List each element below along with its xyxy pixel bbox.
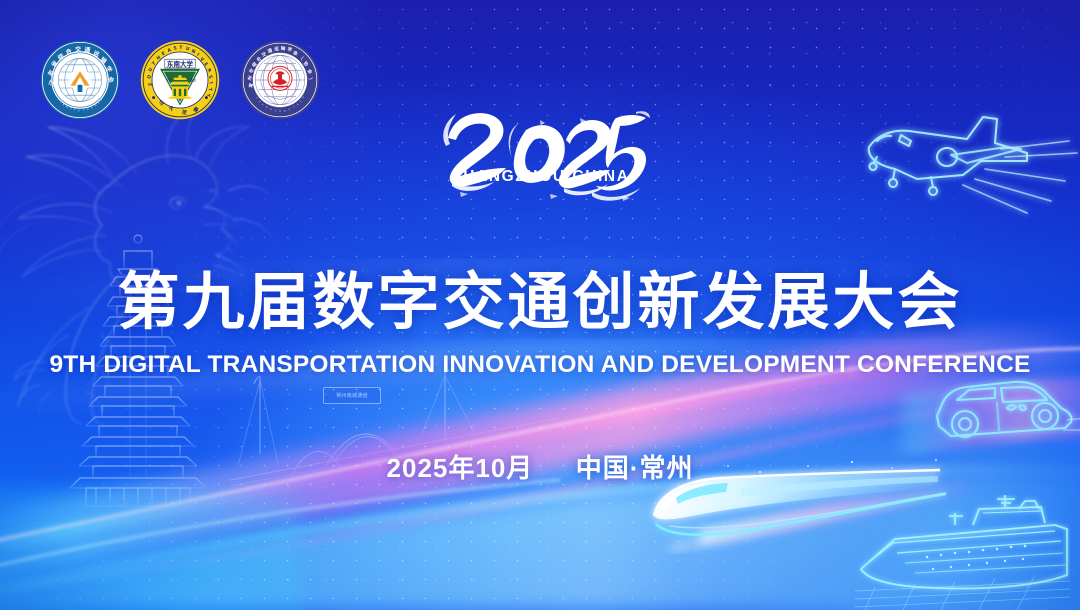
svg-text:S: S	[173, 45, 177, 51]
svg-text:H: H	[279, 110, 281, 113]
cruise-ship-neon-icon	[855, 495, 1070, 610]
airplane-neon-icon	[855, 95, 1080, 225]
bridge-sign-label: 常州南城通道	[323, 387, 381, 404]
organizer-logos: 江 苏 省 综 合 交 通 运 输 学 会 J I A N	[40, 40, 320, 120]
logo-jiangsu-comprehensive-transportation-society[interactable]: 江 苏 省 综 合 交 通 运 输 学 会 J I A N	[40, 40, 120, 120]
year-subtitle: CHANGZHOU·CHINA	[430, 168, 650, 186]
conference-poster: 常州南城通道	[0, 0, 1080, 610]
page-title-chinese: 第九届数字交通创新发展大会	[0, 272, 1080, 334]
svg-text:至: 至	[181, 109, 187, 117]
svg-text:1902: 1902	[166, 79, 174, 83]
svg-text:东南大学: 东南大学	[167, 59, 194, 68]
event-location: 中国·常州	[576, 453, 694, 483]
logo-southeast-university[interactable]: 东南大学 1902 南京 S O U T H E A S T U N I	[140, 40, 220, 120]
logo-changzhou-comprehensive-transportation-association[interactable]: 常 州 市 综 合 交 通 运 输 学 会 （ 协 会 ）	[240, 40, 320, 120]
car-neon-icon	[935, 368, 1080, 453]
svg-text:南京: 南京	[190, 78, 196, 83]
event-meta-line: 2025年10月 中国·常州	[0, 448, 1080, 485]
event-date: 2025年10月	[387, 453, 534, 483]
year-calligraphy-mark: CHANGZHOU·CHINA	[430, 96, 650, 221]
page-title-english: 9TH DIGITAL TRANSPORTATION INNOVATION AN…	[0, 351, 1080, 379]
